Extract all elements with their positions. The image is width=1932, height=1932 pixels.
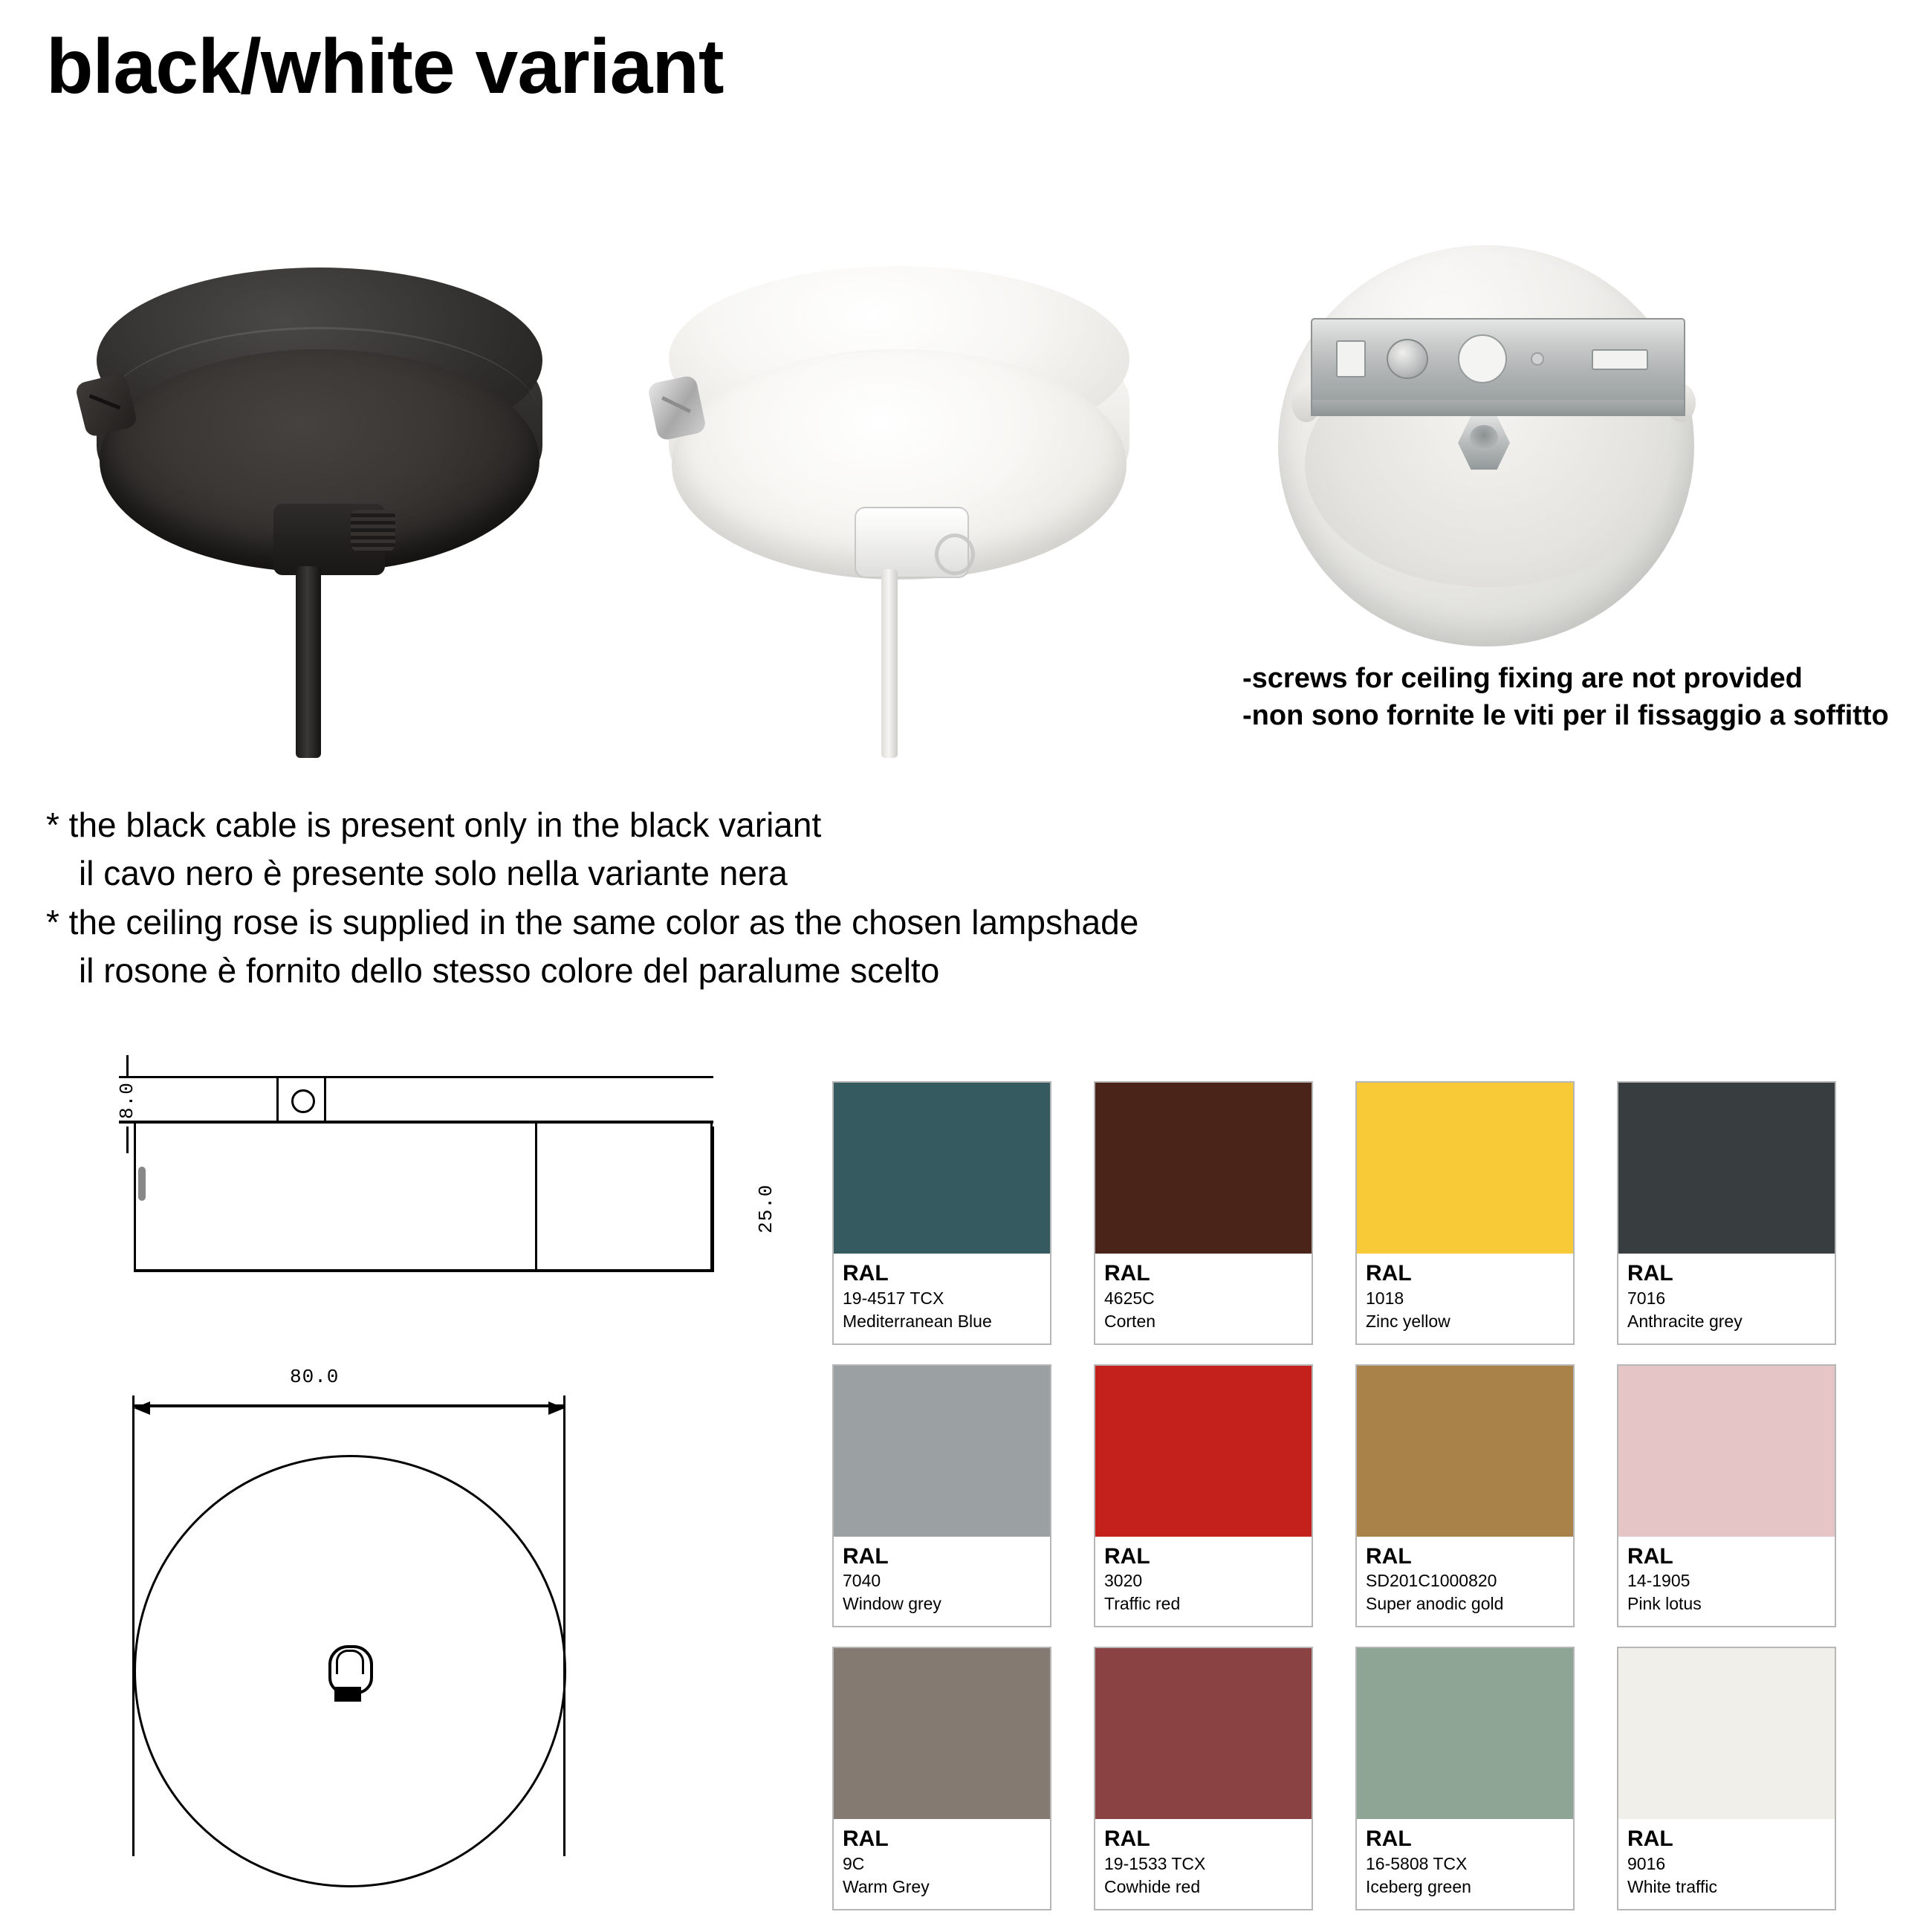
bracket-slot-right	[1592, 349, 1648, 370]
color-chip	[834, 1083, 1050, 1254]
swatch-code: SD201C1000820	[1366, 1569, 1564, 1592]
swatch-brand-label: RAL	[1366, 1544, 1564, 1570]
dim-ext-top	[126, 1055, 129, 1077]
swatch-code: 4625C	[1104, 1287, 1303, 1310]
band-bottom-line	[119, 1121, 713, 1124]
white-ceiling-rose-photo	[646, 238, 1167, 758]
swatch-code: 14-1905	[1627, 1569, 1826, 1592]
swatch-brand-label: RAL	[1627, 1826, 1826, 1852]
note-line-2: il cavo nero è presente solo nella varia…	[46, 849, 1138, 898]
color-chip	[1618, 1648, 1835, 1819]
swatch-card[interactable]: RAL SD201C1000820 Super anodic gold	[1355, 1364, 1575, 1628]
swatch-card[interactable]: RAL 4625C Corten	[1094, 1081, 1313, 1345]
dim-height-label: 8.0	[116, 1082, 138, 1119]
swatch-row: RAL 7040 Window grey RAL 3020 Traffic re…	[832, 1364, 1887, 1628]
swatch-card[interactable]: RAL 9016 White traffic	[1617, 1647, 1836, 1910]
swatch-card[interactable]: RAL 19-4517 TCX Mediterranean Blue	[832, 1081, 1051, 1345]
ceiling-rose-bracket-photo	[1256, 230, 1791, 661]
swatch-name: Anthracite grey	[1627, 1310, 1826, 1333]
color-chip	[834, 1366, 1050, 1537]
color-chip	[834, 1648, 1050, 1819]
dim-diameter-label: 80.0	[290, 1366, 339, 1388]
color-chip	[1357, 1366, 1573, 1537]
swatch-brand-label: RAL	[1104, 1544, 1303, 1570]
swatch-brand-label: RAL	[1627, 1261, 1826, 1287]
swatch-name: Cowhide red	[1104, 1876, 1303, 1899]
boss-hole	[291, 1089, 315, 1113]
transparent-cord	[881, 569, 898, 758]
swatch-code: 9016	[1627, 1852, 1826, 1876]
swatch-card[interactable]: RAL 9C Warm Grey	[832, 1647, 1051, 1910]
dim-ext-right	[712, 1127, 714, 1272]
swatch-name: Traffic red	[1104, 1592, 1303, 1615]
cable-gland-inner	[336, 1650, 364, 1674]
dim-ext-mid	[126, 1127, 129, 1153]
side-view-drawing: 8.0 25.0	[89, 1055, 803, 1271]
swatch-code: 7040	[843, 1569, 1041, 1592]
color-chip	[1095, 1083, 1312, 1254]
band-top-line	[119, 1076, 713, 1078]
swatch-name: Window grey	[843, 1592, 1041, 1615]
dim-arrow-left	[134, 1401, 150, 1415]
swatch-name: Pink lotus	[1627, 1592, 1826, 1615]
page-title: black/white variant	[46, 28, 724, 106]
swatch-code: 16-5808 TCX	[1366, 1852, 1564, 1876]
dim-ext-left	[132, 1395, 134, 1856]
cable-gland-ring	[935, 534, 975, 575]
swatch-card[interactable]: RAL 14-1905 Pink lotus	[1617, 1364, 1836, 1628]
screw-note: -screws for ceiling fixing are not provi…	[1242, 660, 1889, 734]
color-chip	[1095, 1366, 1312, 1537]
color-chip	[1357, 1083, 1573, 1254]
swatch-code: 19-1533 TCX	[1104, 1852, 1303, 1876]
black-ceiling-rose-photo	[74, 238, 580, 758]
screw-note-en: -screws for ceiling fixing are not provi…	[1242, 660, 1889, 697]
swatch-name: Corten	[1104, 1310, 1303, 1333]
swatch-brand-label: RAL	[1627, 1544, 1826, 1570]
swatch-code: 3020	[1104, 1569, 1303, 1592]
swatch-name: Zinc yellow	[1366, 1310, 1564, 1333]
note-line-4: il rosone è fornito dello stesso colore …	[46, 947, 1138, 995]
dim-body-label: 25.0	[755, 1184, 777, 1234]
side-screw-mark	[138, 1167, 146, 1201]
body-bottom-line	[134, 1269, 713, 1272]
color-chip	[1618, 1366, 1835, 1537]
note-line-3: * the ceiling rose is supplied in the sa…	[46, 898, 1138, 947]
swatch-code: 19-4517 TCX	[843, 1287, 1041, 1310]
boss-right-line	[324, 1076, 326, 1121]
black-cable	[296, 566, 321, 758]
swatch-brand-label: RAL	[843, 1261, 1041, 1287]
rose-rim-highlight	[100, 327, 539, 508]
bracket-pin-hole	[1531, 352, 1544, 366]
swatch-name: White traffic	[1627, 1876, 1826, 1899]
note-line-1: * the black cable is present only in the…	[46, 801, 1138, 849]
swatch-row: RAL 19-4517 TCX Mediterranean Blue RAL 4…	[832, 1081, 1887, 1345]
bracket-center-hole	[1458, 334, 1507, 383]
swatch-card[interactable]: RAL 1018 Zinc yellow	[1355, 1081, 1575, 1345]
dim-ext-right	[563, 1395, 565, 1856]
swatch-card[interactable]: RAL 3020 Traffic red	[1094, 1364, 1313, 1628]
dim-line-diameter	[134, 1404, 565, 1407]
swatch-brand-label: RAL	[1366, 1826, 1564, 1852]
swatch-brand-label: RAL	[1104, 1261, 1303, 1287]
swatch-name: Iceberg green	[1366, 1876, 1564, 1899]
mounting-bracket-lip	[1311, 400, 1685, 416]
swatch-card[interactable]: RAL 7040 Window grey	[832, 1364, 1051, 1628]
boss-left-line	[276, 1076, 279, 1121]
bracket-slot-left	[1336, 340, 1366, 377]
swatch-card[interactable]: RAL 19-1533 TCX Cowhide red	[1094, 1647, 1313, 1910]
cable-gland-nut	[351, 510, 395, 551]
swatch-code: 1018	[1366, 1287, 1564, 1310]
swatch-card[interactable]: RAL 16-5808 TCX Iceberg green	[1355, 1647, 1575, 1910]
bracket-bolt	[1387, 339, 1428, 379]
hex-nut-bore	[1470, 425, 1498, 450]
swatch-code: 7016	[1627, 1287, 1826, 1310]
color-chip	[1095, 1648, 1312, 1819]
cable-gland-base	[334, 1687, 361, 1702]
swatch-card[interactable]: RAL 7016 Anthracite grey	[1617, 1081, 1836, 1345]
ral-swatch-grid: RAL 19-4517 TCX Mediterranean Blue RAL 4…	[832, 1081, 1887, 1930]
swatch-row: RAL 9C Warm Grey RAL 19-1533 TCX Cowhide…	[832, 1647, 1887, 1910]
swatch-name: Super anodic gold	[1366, 1592, 1564, 1615]
swatch-brand-label: RAL	[843, 1826, 1041, 1852]
body-left-line	[134, 1124, 136, 1272]
asterisk-notes: * the black cable is present only in the…	[46, 801, 1138, 995]
color-chip	[1357, 1648, 1573, 1819]
dim-arrow-right	[548, 1401, 565, 1415]
swatch-name: Mediterranean Blue	[843, 1310, 1041, 1333]
body-seam-line	[535, 1124, 537, 1272]
swatch-name: Warm Grey	[843, 1876, 1041, 1899]
screw-note-it: -non sono fornite le viti per il fissagg…	[1242, 697, 1889, 734]
swatch-brand-label: RAL	[1104, 1826, 1303, 1852]
swatch-brand-label: RAL	[1366, 1261, 1564, 1287]
color-chip	[1618, 1083, 1835, 1254]
top-view-drawing: 80.0	[89, 1360, 803, 1895]
swatch-brand-label: RAL	[843, 1544, 1041, 1570]
swatch-code: 9C	[843, 1852, 1041, 1876]
